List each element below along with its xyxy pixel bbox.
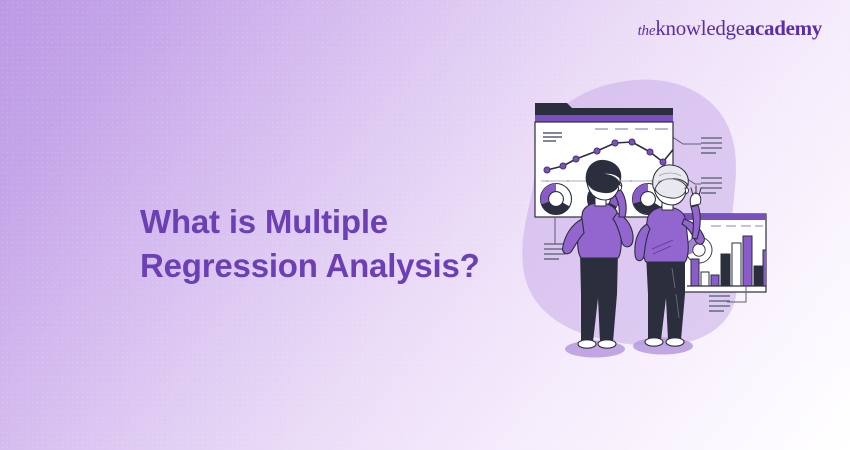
person-grey-hair-shoe-left xyxy=(645,338,663,346)
person-dark-hair-ear xyxy=(618,185,622,191)
bar-8 xyxy=(763,250,772,286)
person-grey-hair-ear xyxy=(685,188,689,194)
person-grey-hair-top xyxy=(643,207,688,262)
bar-4 xyxy=(721,254,730,286)
banner: theknowledgeacademy What is Multiple Reg… xyxy=(0,0,850,450)
bar-3 xyxy=(711,275,719,286)
person-dark-hair-shoe-right xyxy=(598,340,616,348)
panel-accent-stripe xyxy=(535,115,673,122)
page-title-line-2: Regression Analysis? xyxy=(140,244,530,288)
data-analytics-dashboard-illustration xyxy=(505,72,805,372)
brand-logo[interactable]: theknowledgeacademy xyxy=(638,18,822,39)
page-title: What is Multiple Regression Analysis? xyxy=(140,200,530,288)
shadow-person-grey-hair xyxy=(633,338,693,355)
person-dark-hair-shoe-left xyxy=(578,340,596,348)
bar-5 xyxy=(732,243,741,286)
person-grey-hair-shoe-right xyxy=(666,338,684,346)
logo-word-knowledge: knowledge xyxy=(655,16,744,40)
logo-word-academy: academy xyxy=(745,16,822,40)
bar-7 xyxy=(754,266,762,286)
page-title-line-1: What is Multiple xyxy=(140,200,530,244)
logo-word-the: the xyxy=(638,23,656,39)
bar-1 xyxy=(691,259,699,286)
dashboard-donut-1 xyxy=(541,184,572,215)
bar-2 xyxy=(701,272,709,286)
bar-6 xyxy=(743,236,752,286)
